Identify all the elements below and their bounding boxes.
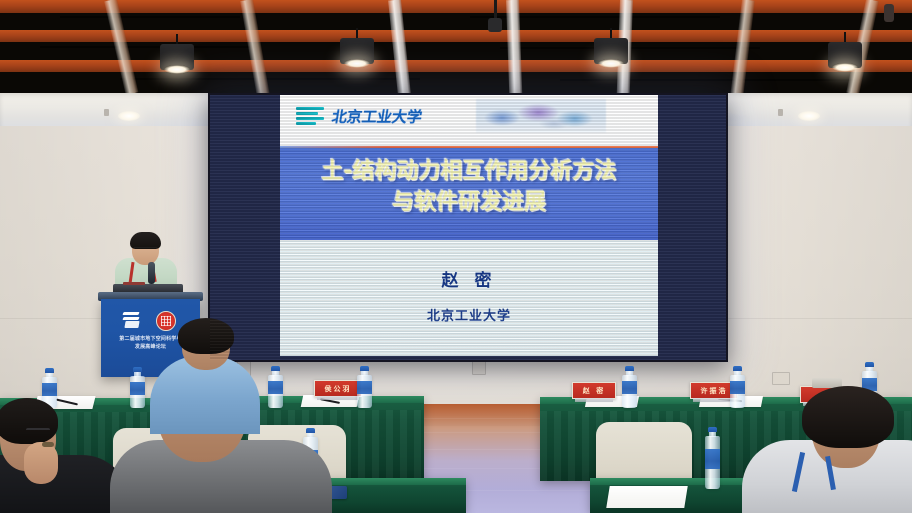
smoke-detector-icon [104, 109, 109, 116]
campus-banner-photo [476, 99, 606, 133]
name-card: 侯公羽 [314, 380, 362, 397]
ceiling-mount [488, 18, 502, 32]
conference-hall-screenshot: 北京工业大学 土-结构动力相互作用分析方法 与软件研发进展 赵 密 北京工业大学 [0, 0, 912, 513]
pendant-spotlight [160, 34, 194, 76]
university-logo-text: 北京工业大学 [330, 106, 423, 127]
screen-active-area: 北京工业大学 土-结构动力相互作用分析方法 与软件研发进展 赵 密 北京工业大学 [210, 95, 726, 360]
slide-speaker-name: 赵 密 [280, 240, 658, 291]
attendee-hair [178, 318, 234, 354]
presentation-slide: 北京工业大学 土-结构动力相互作用分析方法 与软件研发进展 赵 密 北京工业大学 [280, 95, 658, 356]
red-circular-seal-logo [156, 311, 176, 331]
slide-title-line-2: 与软件研发进展 [280, 186, 658, 217]
pendant-spotlight [594, 28, 628, 70]
ceiling-mount [884, 4, 894, 22]
microphone-icon [148, 262, 155, 284]
attendee-hand [24, 442, 58, 484]
attendee-hair [802, 386, 894, 448]
slide-speaker-affiliation: 北京工业大学 [280, 291, 658, 324]
name-card-text: 赵 密 [583, 386, 605, 396]
glasses-icon [26, 428, 50, 434]
name-card-text: 许振浩 [701, 386, 728, 396]
led-display-screen[interactable]: 北京工业大学 土-结构动力相互作用分析方法 与软件研发进展 赵 密 北京工业大学 [208, 93, 728, 362]
paper-sheet [606, 486, 687, 508]
pendant-spotlight [340, 28, 374, 70]
pendant-spotlight [828, 32, 862, 74]
glasses-icon [134, 247, 157, 252]
bjut-stripes-logo [296, 105, 326, 127]
bracelet [42, 442, 54, 447]
wall-outlet [772, 372, 790, 385]
recessed-downlight [118, 111, 140, 121]
name-card-text: 侯公羽 [325, 384, 352, 394]
slide-title-line-1: 土-结构动力相互作用分析方法 [280, 148, 658, 186]
slide-header: 北京工业大学 [280, 95, 658, 147]
ceiling-structure [0, 0, 912, 96]
university-logo: 北京工业大学 [296, 101, 466, 131]
slide-title-band: 土-结构动力相互作用分析方法 与软件研发进展 [280, 148, 658, 240]
attendee-hair [0, 398, 58, 444]
name-card: 赵 密 [572, 382, 616, 399]
smoke-detector-icon [778, 109, 783, 116]
recessed-downlight [798, 111, 820, 121]
underground-space-cube-logo [123, 311, 142, 329]
slide-body: 赵 密 北京工业大学 [280, 240, 658, 356]
